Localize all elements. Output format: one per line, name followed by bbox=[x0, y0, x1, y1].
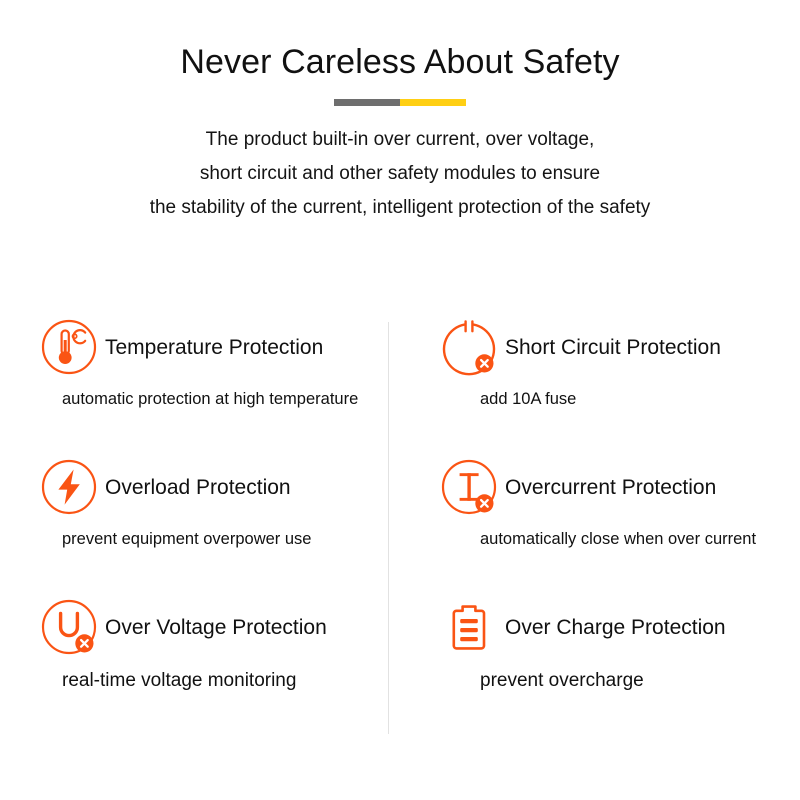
feature-over-charge-protection: Over Charge Protection prevent overcharg… bbox=[388, 598, 800, 738]
divider-segment-gray bbox=[334, 99, 400, 106]
features-section: Temperature Protection automatic protect… bbox=[0, 318, 800, 738]
feature-temperature-protection: Temperature Protection automatic protect… bbox=[0, 318, 388, 458]
feature-caption: real-time voltage monitoring bbox=[0, 671, 388, 690]
subtitle-line-1: The product built-in over current, over … bbox=[0, 123, 800, 157]
broken-circuit-icon bbox=[440, 318, 498, 376]
feature-caption: add 10A fuse bbox=[388, 391, 800, 408]
feature-overcurrent-protection: Overcurrent Protection automatically clo… bbox=[388, 458, 800, 598]
subtitle-line-3: the stability of the current, intelligen… bbox=[0, 191, 800, 225]
voltage-letter-u-icon bbox=[40, 598, 98, 656]
feature-title: Short Circuit Protection bbox=[505, 337, 721, 358]
title-divider bbox=[334, 99, 466, 106]
feature-title: Over Voltage Protection bbox=[105, 617, 327, 638]
feature-title: Over Charge Protection bbox=[505, 617, 726, 638]
divider-segment-yellow bbox=[400, 99, 466, 106]
feature-caption: prevent equipment overpower use bbox=[0, 531, 388, 548]
subtitle-block: The product built-in over current, over … bbox=[0, 123, 800, 224]
safety-infographic: Never Careless About Safety The product … bbox=[0, 0, 800, 800]
subtitle-line-2: short circuit and other safety modules t… bbox=[0, 157, 800, 191]
lightning-bolt-icon bbox=[40, 458, 98, 516]
page-title: Never Careless About Safety bbox=[0, 44, 800, 81]
feature-caption: automatically close when over current bbox=[388, 531, 800, 548]
feature-caption: prevent overcharge bbox=[388, 671, 800, 690]
feature-title: Temperature Protection bbox=[105, 337, 323, 358]
thermometer-celsius-icon bbox=[40, 318, 98, 376]
header-section: Never Careless About Safety The product … bbox=[0, 0, 800, 225]
current-letter-i-icon bbox=[440, 458, 498, 516]
feature-title: Overcurrent Protection bbox=[505, 477, 716, 498]
feature-short-circuit-protection: Short Circuit Protection add 10A fuse bbox=[388, 318, 800, 458]
battery-icon bbox=[440, 598, 498, 656]
feature-over-voltage-protection: Over Voltage Protection real-time voltag… bbox=[0, 598, 388, 738]
feature-overload-protection: Overload Protection prevent equipment ov… bbox=[0, 458, 388, 598]
feature-title: Overload Protection bbox=[105, 477, 291, 498]
feature-caption: automatic protection at high temperature bbox=[0, 391, 388, 408]
